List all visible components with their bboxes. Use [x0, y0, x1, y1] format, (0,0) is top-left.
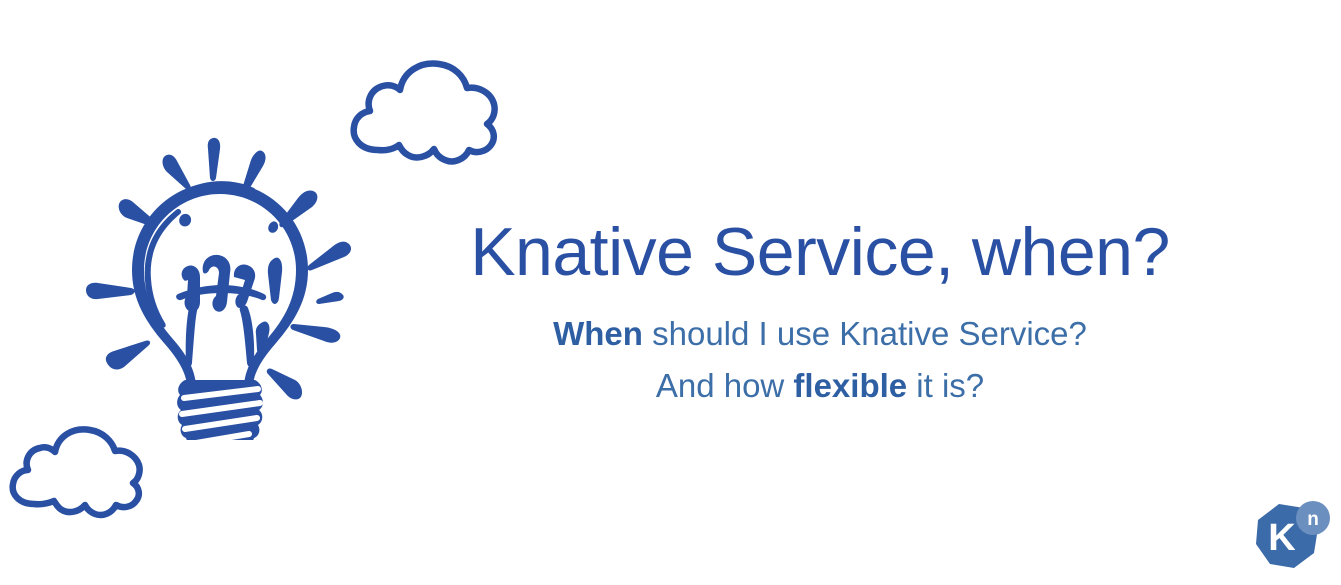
cloud-icon-top [344, 54, 504, 170]
logo-letter-n: n [1307, 509, 1319, 530]
logo-letter-k: K [1268, 517, 1296, 559]
cloud-icon-bottom [4, 424, 150, 520]
subtitle-line-2: And how flexible it is? [420, 360, 1220, 412]
knative-logo: K n [1246, 498, 1332, 580]
slide-canvas: Knative Service, when? When should I use… [0, 0, 1341, 585]
subtitle-line-1-bold: When [553, 315, 643, 352]
subtitle-line-2-tail: it is? [907, 367, 984, 404]
page-title: Knative Service, when? [420, 218, 1220, 286]
subtitle-line-1: When should I use Knative Service? [420, 308, 1220, 360]
subtitle-block: When should I use Knative Service? And h… [420, 308, 1220, 412]
slide-text-block: Knative Service, when? When should I use… [420, 218, 1220, 412]
subtitle-line-1-text: should I use Knative Service? [643, 315, 1087, 352]
lightbulb-icon [72, 122, 370, 440]
subtitle-line-2-bold: flexible [793, 367, 907, 404]
subtitle-line-2-lead: And how [656, 367, 794, 404]
